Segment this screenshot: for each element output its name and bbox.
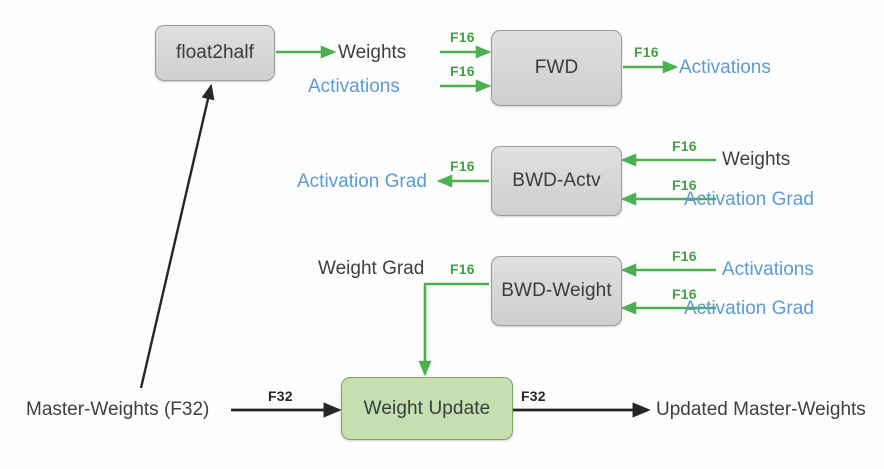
node-bwd-weight[interactable]: BWD-Weight <box>491 256 622 326</box>
node-fwd[interactable]: FWD <box>491 30 622 106</box>
edge-label-f16-grad-to-bwd-actv: F16 <box>672 178 697 192</box>
edge-label-f16-activations-to-fwd: F16 <box>450 64 475 78</box>
edge-label-f16-fwd-output: F16 <box>634 45 659 59</box>
label-activations-fwd-input: Activations <box>308 77 400 96</box>
mixed-precision-training-diagram: float2half FWD BWD-Actv BWD-Weight Weigh… <box>0 0 884 469</box>
edge-label-f16-grad-to-bwd-weight: F16 <box>672 287 697 301</box>
node-bwd-weight-label: BWD-Weight <box>501 280 611 302</box>
edge-label-f16-activations-to-bwd-weight: F16 <box>672 249 697 263</box>
node-float2half-label: float2half <box>176 42 254 64</box>
node-weight-update[interactable]: Weight Update <box>341 377 513 440</box>
label-activation-grad-output: Activation Grad <box>297 172 427 191</box>
label-activation-grad-bwd-weight-input: Activation Grad <box>684 299 814 318</box>
edge-label-f16-bwd-actv-output: F16 <box>450 159 475 173</box>
edge-weightgrad-elbow <box>425 284 489 374</box>
label-weights-bwd-actv-input: Weights <box>722 150 790 169</box>
label-activations-bwd-weight-input: Activations <box>722 260 814 279</box>
node-float2half[interactable]: float2half <box>155 25 275 81</box>
edge-label-f16-weights-to-fwd: F16 <box>450 30 475 44</box>
node-bwd-actv[interactable]: BWD-Actv <box>491 146 622 216</box>
label-updated-master-weights: Updated Master-Weights <box>656 400 866 419</box>
label-master-weights: Master-Weights (F32) <box>26 400 209 419</box>
node-weight-update-label: Weight Update <box>364 398 491 420</box>
label-weights-fwd: Weights <box>338 43 406 62</box>
edge-label-f32-master-weights-input: F32 <box>268 389 293 403</box>
label-activation-grad-bwd-actv-input: Activation Grad <box>684 190 814 209</box>
node-fwd-label: FWD <box>535 57 579 79</box>
label-weight-grad: Weight Grad <box>318 259 424 278</box>
edge-label-f16-bwd-weight-output: F16 <box>450 262 475 276</box>
label-activations-fwd-output: Activations <box>679 58 771 77</box>
edge-label-f16-weights-to-bwd-actv: F16 <box>672 139 697 153</box>
node-bwd-actv-label: BWD-Actv <box>512 170 600 192</box>
edge-label-f32-update-output: F32 <box>521 389 546 403</box>
edge-masterweights-to-float2half <box>141 86 211 388</box>
